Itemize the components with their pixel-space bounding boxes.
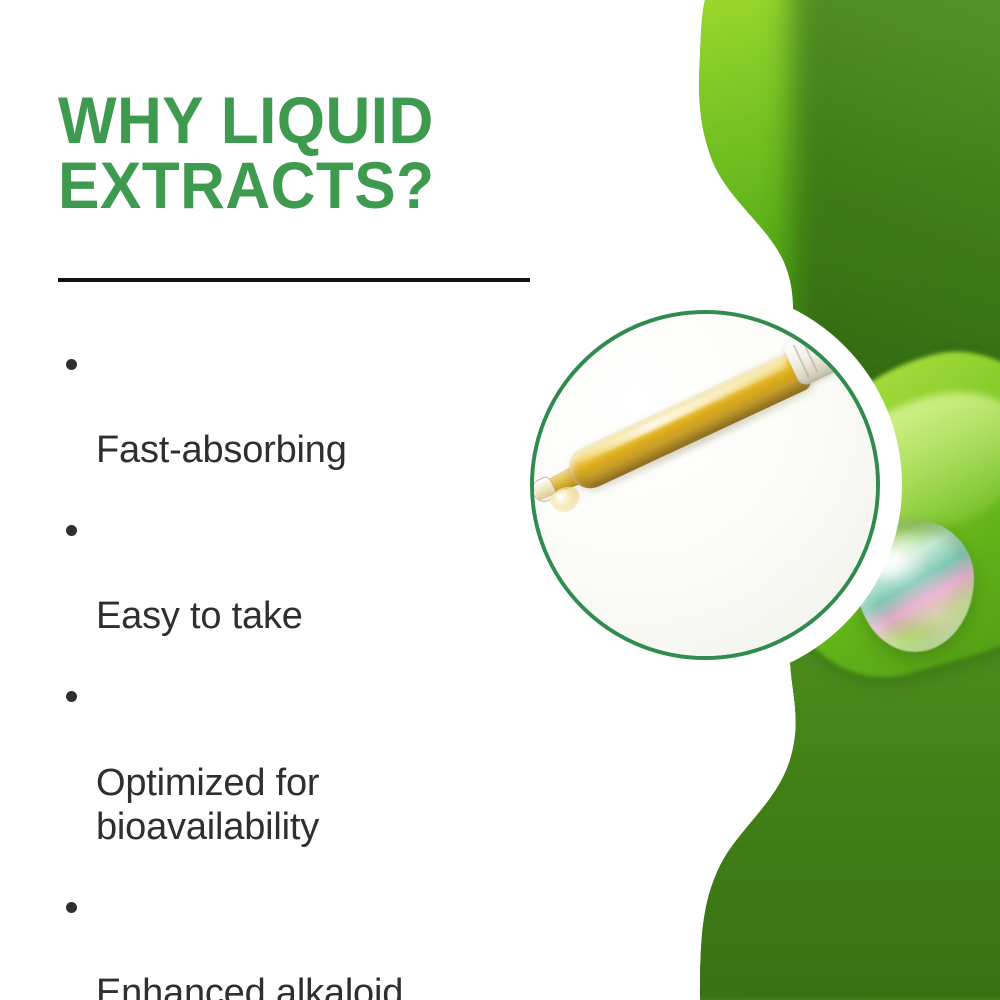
page-title: WHY LIQUID EXTRACTS? xyxy=(58,88,547,217)
infographic-canvas: WHY LIQUID EXTRACTS? Fast-absorbing Easy… xyxy=(0,0,1000,1000)
list-item-label: Optimized for bioavailability xyxy=(96,762,319,848)
bullet-dot-icon xyxy=(66,691,77,702)
list-item: Fast-absorbing xyxy=(58,340,578,472)
list-item-label: Enhanced alkaloid dissolubility xyxy=(96,972,403,1000)
list-item: Optimized for bioavailability xyxy=(58,672,578,848)
title-divider xyxy=(58,278,530,282)
list-item: Enhanced alkaloid dissolubility xyxy=(58,883,578,1000)
bullet-dot-icon xyxy=(66,525,77,536)
list-item-label: Easy to take xyxy=(96,595,303,637)
list-item-label: Fast-absorbing xyxy=(96,429,347,471)
benefits-list: Fast-absorbing Easy to take Optimized fo… xyxy=(58,340,578,1000)
text-column: WHY LIQUID EXTRACTS? Fast-absorbing Easy… xyxy=(0,0,640,1000)
bullet-dot-icon xyxy=(66,902,77,913)
bullet-dot-icon xyxy=(66,359,77,370)
list-item: Easy to take xyxy=(58,506,578,638)
